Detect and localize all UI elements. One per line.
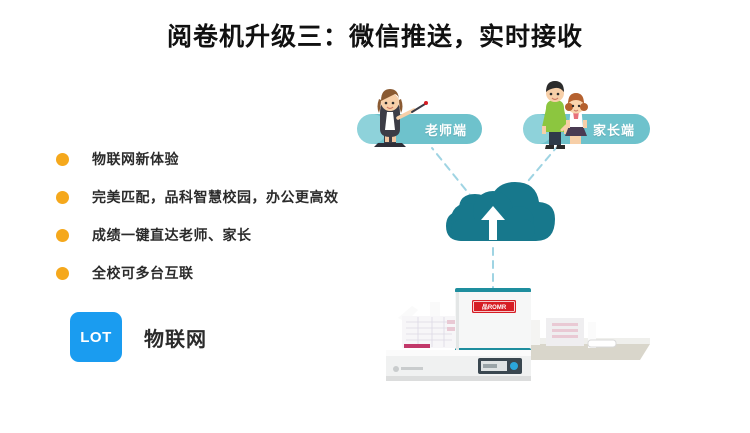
machine-control-panel [478, 358, 522, 374]
machine-input-tray [398, 302, 457, 348]
bullet-dot-icon [56, 153, 69, 166]
teacher-endpoint-pill[interactable]: 老师端 [360, 114, 482, 144]
list-item: 物联网新体验 [56, 140, 386, 178]
slide-canvas: 阅卷机升级三：微信推送，实时接收 物联网新体验 完美匹配，品科智慧校园，办公更高… [0, 0, 750, 433]
list-item: 成绩一键直达老师、家长 [56, 216, 386, 254]
machine-upper-unit: 品ROMR [455, 288, 531, 353]
machine-output-tray [516, 318, 650, 360]
bullet-dot-icon [56, 191, 69, 204]
cloud-shape [446, 182, 555, 241]
iot-badge-group: LOT 物联网 [70, 312, 207, 362]
machine-brand-label: 品ROMR [472, 300, 516, 313]
iot-badge-icon: LOT [70, 312, 122, 362]
list-item-label: 完美匹配，品科智慧校园，办公更高效 [92, 187, 339, 207]
page-title: 阅卷机升级三：微信推送，实时接收 [0, 17, 750, 53]
list-item-label: 成绩一键直达老师、家长 [92, 225, 252, 245]
machine-base-logo [393, 366, 423, 372]
connector-cloud-to-teacher [432, 148, 474, 200]
bullet-dot-icon [56, 267, 69, 280]
list-item-label: 物联网新体验 [92, 149, 179, 169]
list-item: 完美匹配，品科智慧校园，办公更高效 [56, 178, 386, 216]
parent-endpoint-label: 家长端 [593, 120, 635, 139]
bullet-dot-icon [56, 229, 69, 242]
upload-arrow-icon [481, 206, 505, 240]
teacher-endpoint-label: 老师端 [425, 120, 467, 139]
list-item-label: 全校可多台互联 [92, 263, 194, 283]
feature-bullet-list: 物联网新体验 完美匹配，品科智慧校园，办公更高效 成绩一键直达老师、家长 全校可… [56, 140, 386, 292]
connector-cloud-to-parent [512, 148, 556, 200]
parent-endpoint-pill[interactable]: 家长端 [526, 114, 650, 144]
list-item: 全校可多台互联 [56, 254, 386, 292]
iot-label: 物联网 [144, 323, 207, 352]
machine-base [386, 350, 531, 381]
svg-text:品ROMR: 品ROMR [482, 303, 507, 311]
iot-badge-text: LOT [80, 329, 112, 346]
